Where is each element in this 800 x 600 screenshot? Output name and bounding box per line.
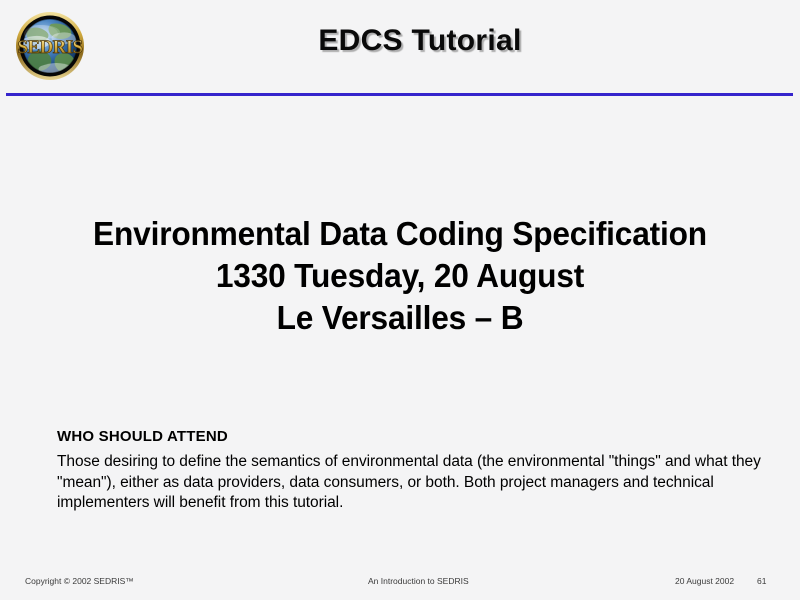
slide-footer: Copyright © 2002 SEDRIS™ An Introduction… xyxy=(0,573,800,593)
main-title-line-1: Environmental Data Coding Specification xyxy=(16,213,784,255)
page-title: EDCS Tutorial xyxy=(100,24,740,58)
footer-page-number: 61 xyxy=(757,576,766,586)
main-title-block: Environmental Data Coding Specification … xyxy=(0,213,800,339)
footer-presentation-title: An Introduction to SEDRIS xyxy=(368,576,469,586)
who-should-attend-body: Those desiring to define the semantics o… xyxy=(57,452,775,514)
main-title-line-2: 1330 Tuesday, 20 August xyxy=(16,255,784,297)
slide: SEDRIS EDCS Tutorial Environmental Data … xyxy=(0,0,800,600)
sedris-wordmark: SEDRIS xyxy=(17,37,82,58)
footer-copyright: Copyright © 2002 SEDRIS™ xyxy=(25,576,134,586)
who-should-attend-heading: WHO SHOULD ATTEND xyxy=(57,428,775,445)
header-divider xyxy=(6,93,793,96)
main-title-line-3: Le Versailles – B xyxy=(16,297,784,339)
slide-header: SEDRIS EDCS Tutorial xyxy=(0,0,800,95)
who-should-attend-section: WHO SHOULD ATTEND Those desiring to defi… xyxy=(57,428,775,514)
sedris-globe-logo: SEDRIS xyxy=(7,10,93,82)
footer-date: 20 August 2002 xyxy=(675,576,734,586)
